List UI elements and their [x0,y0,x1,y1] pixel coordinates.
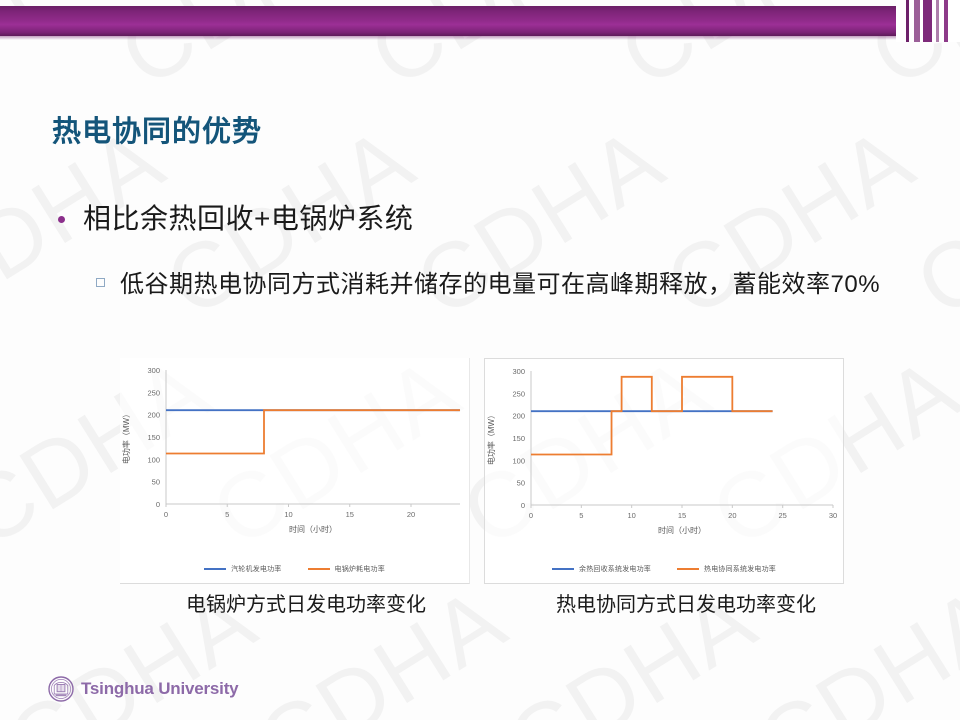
footer-university-label: Tsinghua University [81,679,238,699]
legend-item: 电锅炉耗电功率 [308,564,385,574]
x-axis-tick-label: 20 [407,510,415,519]
slide-canvas: CDHACDHACDHACDHACDHACDHACDHACDHACDHACDHA… [0,0,960,720]
x-axis-tick-label: 5 [225,510,229,519]
y-axis-tick-label: 200 [147,411,160,420]
y-axis-tick-label: 150 [147,433,160,442]
legend-swatch [204,568,226,571]
bullet-square-icon [96,278,105,287]
header-stripe-decoration [896,0,960,42]
legend-item: 汽轮机发电功率 [204,564,281,574]
bullet-level1-label: 相比余热回收+电锅炉系统 [83,200,413,238]
y-axis-tick-label: 50 [152,478,160,487]
x-axis-tick-label: 10 [627,511,635,520]
y-axis-tick-label: 50 [517,479,525,488]
y-axis-title: 电功率（MW） [486,411,496,465]
chart-left-plot: 05010015020025030005101520电功率（MW）时间（小时） [120,358,470,548]
watermark-text: CDHA [241,567,525,720]
x-axis-tick-label: 20 [728,511,736,520]
x-axis-tick-label: 10 [284,510,292,519]
y-axis-tick-label: 150 [512,434,525,443]
legend-swatch [677,568,699,571]
chart-left-legend: 汽轮机发电功率电锅炉耗电功率 [120,564,469,574]
y-axis-tick-label: 0 [156,500,160,509]
chart-right-plot: 050100150200250300051015202530电功率（MW）时间（… [485,359,843,549]
legend-swatch [308,568,330,571]
bullet-level2-label: 低谷期热电协同方式消耗并储存的电量可在高峰期释放，蓄能效率70% [120,262,880,309]
y-axis-tick-label: 250 [512,389,525,398]
footer-branding: Tsinghua University [48,676,238,702]
tsinghua-seal-icon [48,676,74,702]
bullet-level1: 相比余热回收+电锅炉系统 [58,200,413,238]
header-stripe [923,0,932,42]
y-axis-tick-label: 300 [147,366,160,375]
series-line [166,410,460,453]
page-title: 热电协同的优势 [52,108,262,150]
watermark-text: CDHA [945,337,960,568]
legend-label: 热电协同系统发电功率 [704,564,776,574]
chart-right-legend: 余热回收系统发电功率热电协同系统发电功率 [485,564,843,574]
y-axis-title: 电功率（MW） [121,410,131,464]
legend-label: 电锅炉耗电功率 [335,564,385,574]
x-axis-tick-label: 15 [346,510,354,519]
caption-left: 电锅炉方式日发电功率变化 [186,592,446,619]
legend-label: 汽轮机发电功率 [231,564,281,574]
watermark-text: CDHA [741,567,960,720]
chart-chp-coordination: 050100150200250300051015202530电功率（MW）时间（… [484,358,844,584]
x-axis-tick-label: 15 [678,511,686,520]
watermark-text: CDHA [491,567,775,720]
y-axis-tick-label: 300 [512,367,525,376]
x-axis-tick-label: 30 [829,511,837,520]
y-axis-tick-label: 100 [147,455,160,464]
legend-swatch [552,568,574,571]
x-axis-title: 时间（小时） [289,524,337,534]
bullet-level2: 低谷期热电协同方式消耗并储存的电量可在高峰期释放，蓄能效率70% [96,262,886,309]
bullet-dot-icon [58,216,65,223]
legend-label: 余热回收系统发电功率 [579,564,651,574]
series-line [531,377,773,455]
y-axis-tick-label: 0 [521,501,525,510]
x-axis-tick-label: 5 [579,511,583,520]
header-bar-shadow [0,36,960,40]
x-axis-tick-label: 0 [529,511,533,520]
header-purple-bar [0,6,960,36]
y-axis-tick-label: 200 [512,412,525,421]
y-axis-tick-label: 250 [147,388,160,397]
caption-right: 热电协同方式日发电功率变化 [556,592,816,619]
legend-item: 热电协同系统发电功率 [677,564,776,574]
x-axis-tick-label: 0 [164,510,168,519]
legend-item: 余热回收系统发电功率 [552,564,651,574]
header-stripe [948,0,960,42]
x-axis-tick-label: 25 [778,511,786,520]
x-axis-title: 时间（小时） [658,525,706,535]
y-axis-tick-label: 100 [512,456,525,465]
watermark-text: CDHA [899,107,960,338]
header-stripe [896,0,906,42]
chart-electric-boiler: 05010015020025030005101520电功率（MW）时间（小时） … [120,358,470,584]
